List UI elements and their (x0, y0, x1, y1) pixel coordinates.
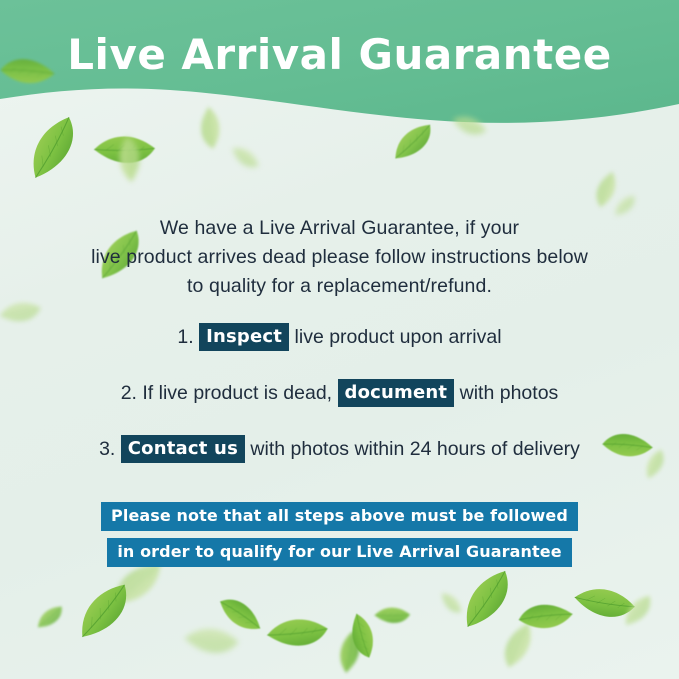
leaf-icon (67, 580, 142, 643)
intro-line-2: live product arrives dead please follow … (0, 243, 679, 272)
notice-line-1: Please note that all steps above must be… (101, 502, 578, 531)
step-text-1: live product upon arrival (295, 326, 502, 348)
notice-banner: Please note that all steps above must be… (0, 502, 679, 574)
leaf-icon (570, 572, 638, 635)
step-number-3: 3. (99, 438, 115, 460)
leaf-icon (33, 604, 67, 630)
step-text-2-after: with photos (460, 382, 559, 404)
leaf-icon (217, 587, 265, 641)
intro-line-3: to quality for a replacement/refund. (0, 272, 679, 301)
leaf-icon (491, 619, 545, 671)
leaf-icon (449, 567, 524, 634)
step-highlight-inspect: Inspect (199, 323, 289, 351)
page-title: Live Arrival Guarantee (0, 30, 679, 79)
notice-row-1: Please note that all steps above must be… (0, 502, 679, 531)
step-item-1: 1. Inspect live product upon arrival (0, 320, 679, 354)
step-item-3: 3. Contact us with photos within 24 hour… (0, 432, 679, 466)
intro-paragraph: We have a Live Arrival Guarantee, if you… (0, 214, 679, 301)
step-highlight-contact-us: Contact us (121, 435, 245, 463)
notice-row-2: in order to qualify for our Live Arrival… (0, 538, 679, 567)
step-number-2: 2. (121, 382, 137, 404)
step-highlight-document: document (338, 379, 455, 407)
leaf-icon (180, 614, 241, 668)
leaf-icon (516, 592, 576, 640)
leaf-icon (617, 593, 659, 628)
leaf-icon (345, 611, 379, 659)
leaf-icon (328, 629, 371, 676)
live-arrival-guarantee-graphic: Live Arrival Guarantee We have a Live Ar… (0, 0, 679, 679)
leaf-icon (372, 599, 412, 632)
step-text-2-before: If live product is dead, (142, 382, 332, 404)
leaf-icon (264, 606, 331, 660)
step-number-1: 1. (177, 326, 193, 348)
intro-line-1: We have a Live Arrival Guarantee, if you… (0, 214, 679, 243)
steps-list: 1. Inspect live product upon arrival 2. … (0, 320, 679, 488)
leaf-icon (439, 588, 463, 618)
step-text-3: with photos within 24 hours of delivery (250, 438, 580, 460)
leaf-icon (585, 168, 626, 209)
notice-line-2: in order to qualify for our Live Arrival… (107, 538, 571, 567)
step-item-2: 2. If live product is dead, document wit… (0, 376, 679, 410)
